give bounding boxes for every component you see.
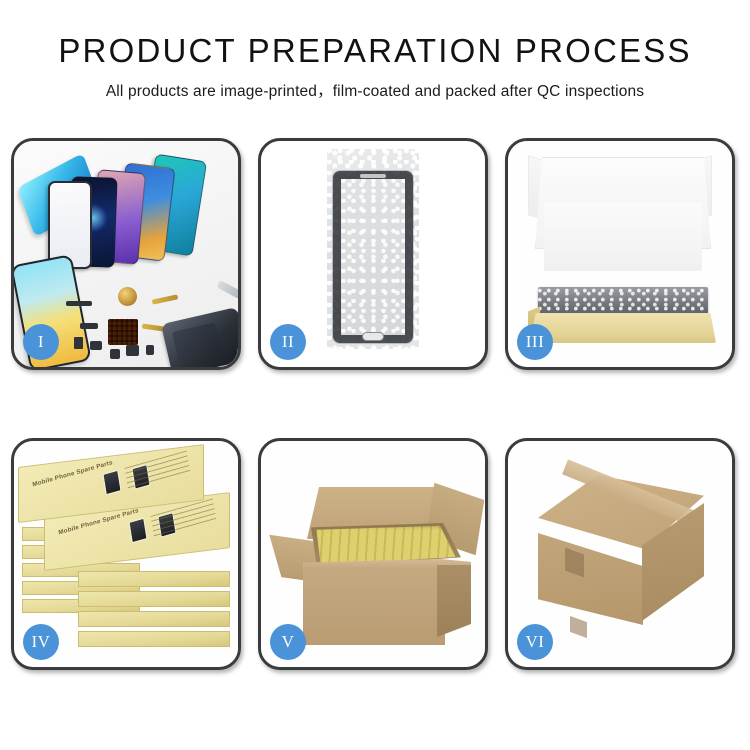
step-panel-4[interactable]: Mobile Phone Spare Parts Mobile Phone Sp…: [11, 438, 241, 670]
wrapped-screen-icon: [333, 171, 413, 343]
process-steps-grid: I II III: [11, 138, 739, 670]
step-badge-6: VI: [517, 624, 553, 660]
step-panel-3[interactable]: III: [505, 138, 735, 370]
step-badge-3: III: [517, 324, 553, 360]
page-subtitle: All products are image-printed，film-coat…: [0, 79, 750, 101]
page-title: PRODUCT PREPARATION PROCESS: [0, 32, 750, 70]
kraft-box-front: [530, 313, 716, 343]
carton-body: [303, 567, 445, 645]
step-panel-5[interactable]: V: [258, 438, 488, 670]
step-badge-5: V: [270, 624, 306, 660]
packed-screen-icon: [538, 287, 708, 315]
step-panel-2[interactable]: II: [258, 138, 488, 370]
spare-parts-group: [66, 293, 238, 367]
step-panel-1[interactable]: I: [11, 138, 241, 370]
step-badge-4: IV: [23, 624, 59, 660]
bubble-wrap-sheet: [327, 149, 419, 349]
step-badge-2: II: [270, 324, 306, 360]
step-panel-6[interactable]: VI: [505, 438, 735, 670]
sealed-carton-front: [538, 533, 643, 625]
step-badge-1: I: [23, 324, 59, 360]
page-header: PRODUCT PREPARATION PROCESS All products…: [0, 0, 750, 101]
